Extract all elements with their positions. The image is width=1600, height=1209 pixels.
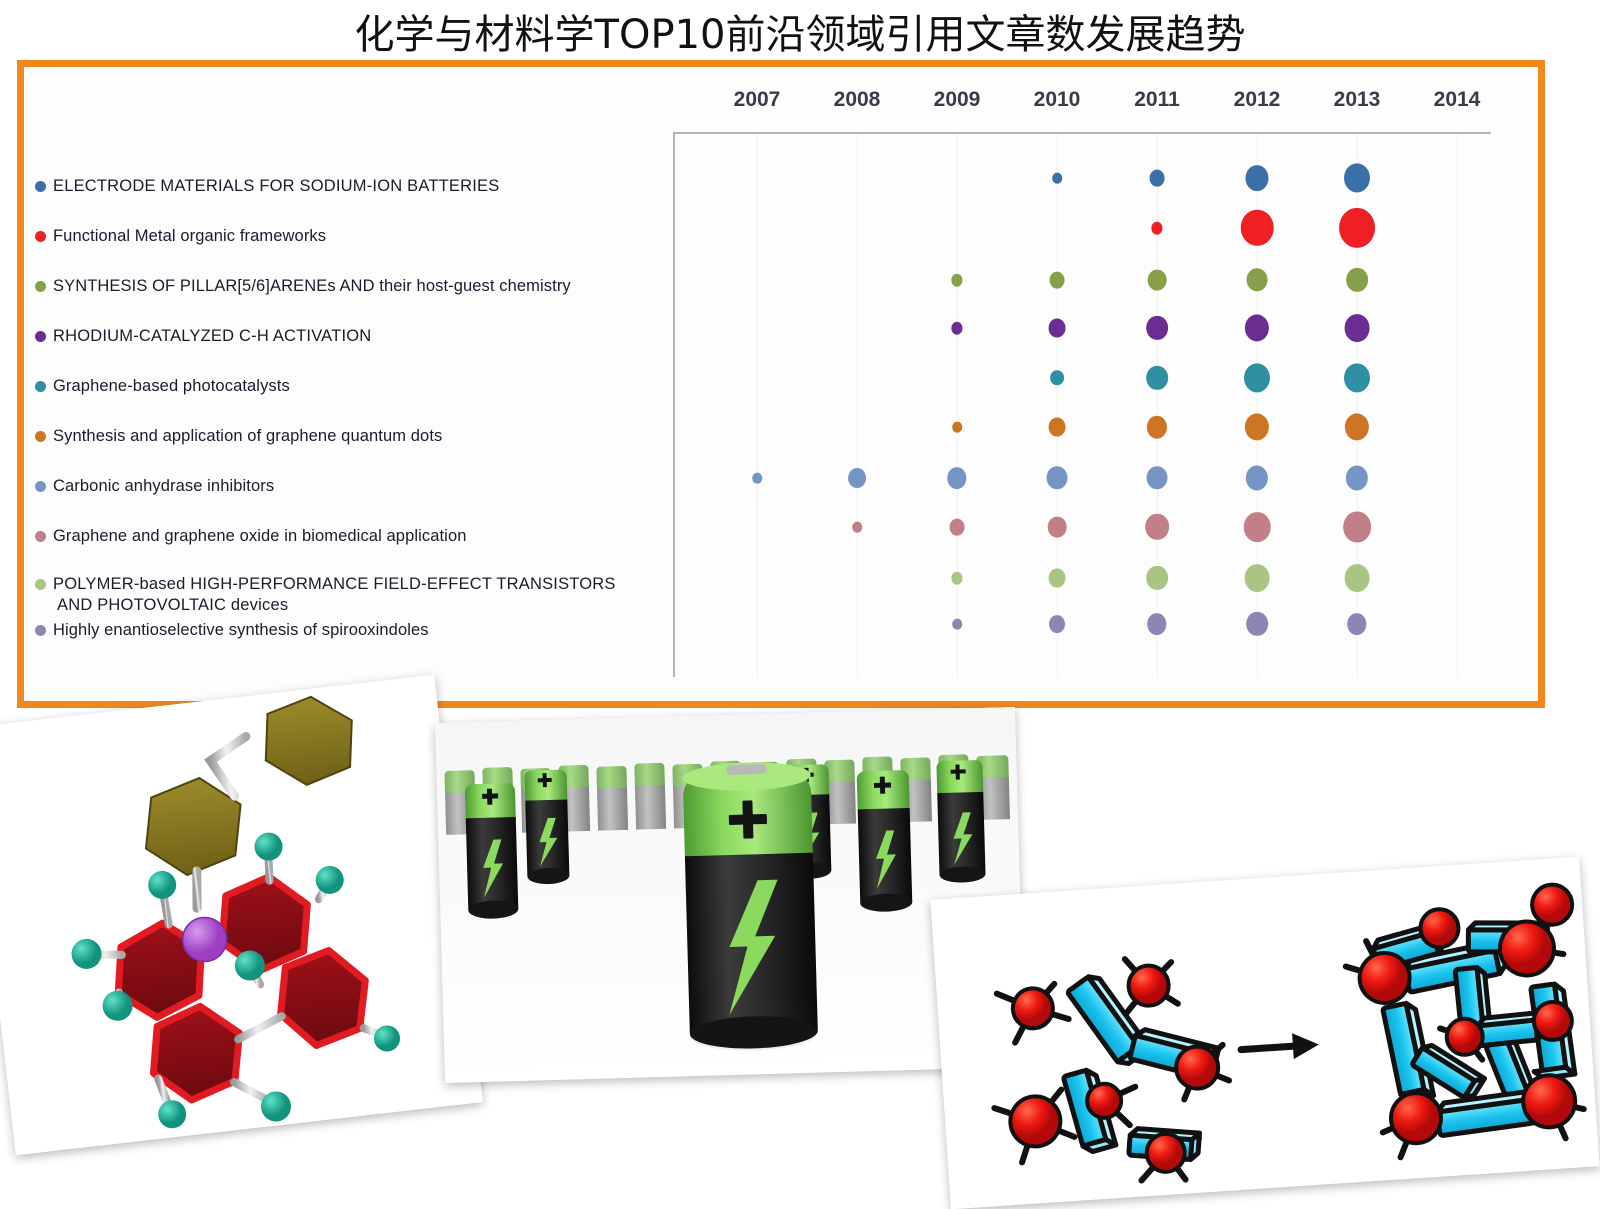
bubble-s7-2008[interactable]	[852, 522, 862, 533]
legend-color-dot-icon	[35, 531, 46, 542]
bubble-s4-2012[interactable]	[1244, 363, 1270, 392]
bubble-s4-2013[interactable]	[1344, 363, 1370, 392]
legend-label-wrap: Carbonic anhydrase inhibitors	[53, 476, 274, 497]
legend-item-label-line2: AND PHOTOVOLTAIC devices	[53, 596, 288, 614]
bubble-s0-2012[interactable]	[1246, 165, 1269, 191]
legend-item-3[interactable]: RHODIUM-CATALYZED C-H ACTIVATION	[35, 326, 371, 347]
bubble-s7-2009[interactable]	[950, 519, 965, 536]
legend-label-wrap: Functional Metal organic frameworks	[53, 226, 326, 247]
legend-label-wrap: Graphene and graphene oxide in biomedica…	[53, 526, 467, 547]
gridline-2010	[1057, 134, 1058, 677]
bubble-s2-2012[interactable]	[1247, 268, 1268, 291]
pillararene-molecule-photo[interactable]	[0, 675, 483, 1155]
molecule-illustration	[0, 675, 483, 1155]
bubble-s4-2011[interactable]	[1146, 366, 1168, 390]
legend-item-label: ELECTRODE MATERIALS FOR SODIUM-ION BATTE…	[53, 177, 499, 195]
title-bar: 化学与材料学TOP10前沿领域引用文章数发展趋势	[0, 0, 1600, 62]
legend-color-dot-icon	[35, 331, 46, 342]
gridline-2014	[1457, 134, 1458, 677]
bubble-s3-2012[interactable]	[1245, 314, 1269, 341]
legend-label-wrap: SYNTHESIS OF PILLAR[5/6]ARENEs AND their…	[53, 276, 571, 297]
year-label-2008: 2008	[807, 88, 907, 112]
legend-item-label: Synthesis and application of graphene qu…	[53, 427, 442, 445]
bubble-s2-2011[interactable]	[1148, 270, 1167, 291]
legend-label-wrap: POLYMER-based HIGH-PERFORMANCE FIELD-EFF…	[53, 574, 616, 615]
legend-color-dot-icon	[35, 481, 46, 492]
legend-label-wrap: Highly enantioselective synthesis of spi…	[53, 620, 429, 641]
bubble-s8-2010[interactable]	[1049, 569, 1066, 588]
legend-color-dot-icon	[35, 431, 46, 442]
bubble-s9-2011[interactable]	[1147, 613, 1166, 635]
bubble-s9-2009[interactable]	[952, 619, 962, 630]
bubble-s0-2010[interactable]	[1052, 173, 1062, 184]
bubble-s7-2010[interactable]	[1048, 517, 1067, 538]
legend-item-label: Highly enantioselective synthesis of spi…	[53, 621, 429, 639]
bubble-s0-2011[interactable]	[1150, 170, 1165, 187]
bubble-s8-2011[interactable]	[1146, 566, 1168, 590]
year-axis-header: 20072008200920102011201220132014	[0, 88, 1600, 122]
legend-label-wrap: ELECTRODE MATERIALS FOR SODIUM-ION BATTE…	[53, 176, 499, 197]
bubble-s2-2013[interactable]	[1346, 268, 1368, 292]
legend-label-wrap: Synthesis and application of graphene qu…	[53, 426, 442, 447]
bubble-s7-2013[interactable]	[1343, 512, 1371, 543]
legend-item-2[interactable]: SYNTHESIS OF PILLAR[5/6]ARENEs AND their…	[35, 276, 571, 297]
bubble-s7-2011[interactable]	[1145, 514, 1169, 540]
gridline-2011	[1157, 134, 1158, 677]
year-label-2007: 2007	[707, 88, 807, 112]
bubble-s3-2011[interactable]	[1146, 316, 1168, 340]
legend-item-8[interactable]: POLYMER-based HIGH-PERFORMANCE FIELD-EFF…	[35, 574, 616, 615]
legend-item-1[interactable]: Functional Metal organic frameworks	[35, 226, 326, 247]
chart-top-border	[673, 132, 1491, 134]
bubble-s8-2012[interactable]	[1245, 564, 1270, 592]
bubble-s7-2012[interactable]	[1244, 512, 1271, 542]
bubble-s5-2012[interactable]	[1245, 413, 1269, 440]
legend-item-5[interactable]: Synthesis and application of graphene qu…	[35, 426, 442, 447]
gridline-2008	[857, 134, 858, 677]
bubble-s2-2009[interactable]	[951, 274, 962, 287]
legend-color-dot-icon	[35, 281, 46, 292]
legend-color-dot-icon	[35, 579, 46, 590]
legend-item-9[interactable]: Highly enantioselective synthesis of spi…	[35, 620, 429, 641]
year-label-2014: 2014	[1407, 88, 1507, 112]
bubble-s9-2010[interactable]	[1049, 615, 1065, 633]
bubble-s6-2007[interactable]	[752, 473, 762, 484]
year-label-2009: 2009	[907, 88, 1007, 112]
bubble-s2-2010[interactable]	[1050, 272, 1065, 289]
sodium-ion-battery-photo[interactable]	[435, 707, 1025, 1083]
bubble-s6-2013[interactable]	[1346, 465, 1368, 490]
bubble-s6-2012[interactable]	[1246, 465, 1268, 490]
year-label-2013: 2013	[1307, 88, 1407, 112]
legend-item-4[interactable]: Graphene-based photocatalysts	[35, 376, 290, 397]
chart-left-border	[673, 132, 675, 677]
year-label-2012: 2012	[1207, 88, 1307, 112]
legend-item-label: Functional Metal organic frameworks	[53, 227, 326, 245]
gridline-2009	[957, 134, 958, 677]
year-label-2011: 2011	[1107, 88, 1207, 112]
bubble-s6-2009[interactable]	[947, 467, 966, 489]
bubble-s6-2010[interactable]	[1047, 466, 1068, 489]
bubble-s5-2010[interactable]	[1049, 418, 1066, 437]
bubble-s1-2013[interactable]	[1339, 208, 1375, 248]
bubble-s4-2010[interactable]	[1050, 370, 1064, 385]
bubble-chart-panel	[673, 132, 1491, 677]
legend-label-wrap: Graphene-based photocatalysts	[53, 376, 290, 397]
legend-label-wrap: RHODIUM-CATALYZED C-H ACTIVATION	[53, 326, 371, 347]
bubble-s8-2009[interactable]	[951, 572, 962, 585]
legend-item-label: SYNTHESIS OF PILLAR[5/6]ARENEs AND their…	[53, 277, 571, 295]
gridline-2007	[757, 134, 758, 677]
page-title: 化学与材料学TOP10前沿领域引用文章数发展趋势	[355, 2, 1246, 60]
bubble-s5-2011[interactable]	[1147, 416, 1167, 439]
year-label-2010: 2010	[1007, 88, 1107, 112]
battery-illustration	[435, 707, 1025, 1083]
bubble-s1-2012[interactable]	[1241, 210, 1274, 246]
bubble-s3-2013[interactable]	[1345, 314, 1370, 342]
bubble-s3-2010[interactable]	[1049, 319, 1066, 338]
legend-color-dot-icon	[35, 625, 46, 636]
bubble-s3-2009[interactable]	[951, 322, 962, 335]
bubble-s0-2013[interactable]	[1344, 163, 1370, 192]
bubble-s6-2008[interactable]	[848, 468, 866, 488]
mof-self-assembly-photo[interactable]	[930, 857, 1599, 1209]
legend-item-label: Graphene-based photocatalysts	[53, 377, 290, 395]
legend-color-dot-icon	[35, 231, 46, 242]
legend-item-label: Carbonic anhydrase inhibitors	[53, 477, 274, 495]
mof-illustration	[930, 857, 1599, 1209]
legend-item-label: Graphene and graphene oxide in biomedica…	[53, 527, 467, 545]
legend-item-label: POLYMER-based HIGH-PERFORMANCE FIELD-EFF…	[53, 575, 616, 593]
bubble-s8-2013[interactable]	[1345, 564, 1370, 592]
legend-item-label: RHODIUM-CATALYZED C-H ACTIVATION	[53, 327, 371, 345]
legend-item-7[interactable]: Graphene and graphene oxide in biomedica…	[35, 526, 467, 547]
legend-color-dot-icon	[35, 381, 46, 392]
bubble-s1-2011[interactable]	[1151, 222, 1162, 235]
legend-color-dot-icon	[35, 181, 46, 192]
bubble-s6-2011[interactable]	[1147, 466, 1168, 489]
bubble-s9-2012[interactable]	[1246, 612, 1268, 636]
bubble-s5-2013[interactable]	[1345, 413, 1369, 440]
legend-item-0[interactable]: ELECTRODE MATERIALS FOR SODIUM-ION BATTE…	[35, 176, 499, 197]
bubble-s9-2013[interactable]	[1347, 613, 1366, 635]
legend-item-6[interactable]: Carbonic anhydrase inhibitors	[35, 476, 274, 497]
bubble-s5-2009[interactable]	[952, 422, 962, 433]
